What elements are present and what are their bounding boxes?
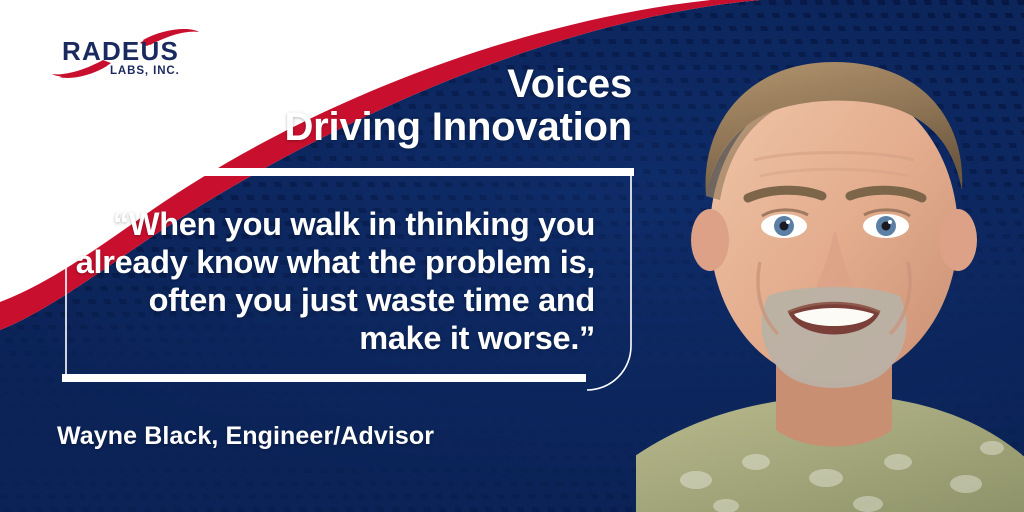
svg-text:RADEUS: RADEUS	[62, 36, 179, 66]
quote-attribution: Wayne Black, Engineer/Advisor	[57, 421, 434, 451]
portrait-photo	[636, 0, 1024, 512]
social-quote-card: RADEUS LABS, INC. Voices Driving Innovat…	[0, 0, 1024, 512]
page-title: Voices Driving Innovation	[284, 63, 632, 149]
quote-text: “When you walk in thinking you already k…	[70, 205, 595, 357]
svg-text:LABS, INC.: LABS, INC.	[110, 65, 180, 77]
headline-line-1: Voices	[507, 62, 632, 106]
radeus-labs-logo: RADEUS LABS, INC.	[47, 26, 212, 84]
headline-line-2: Driving Innovation	[284, 106, 632, 149]
